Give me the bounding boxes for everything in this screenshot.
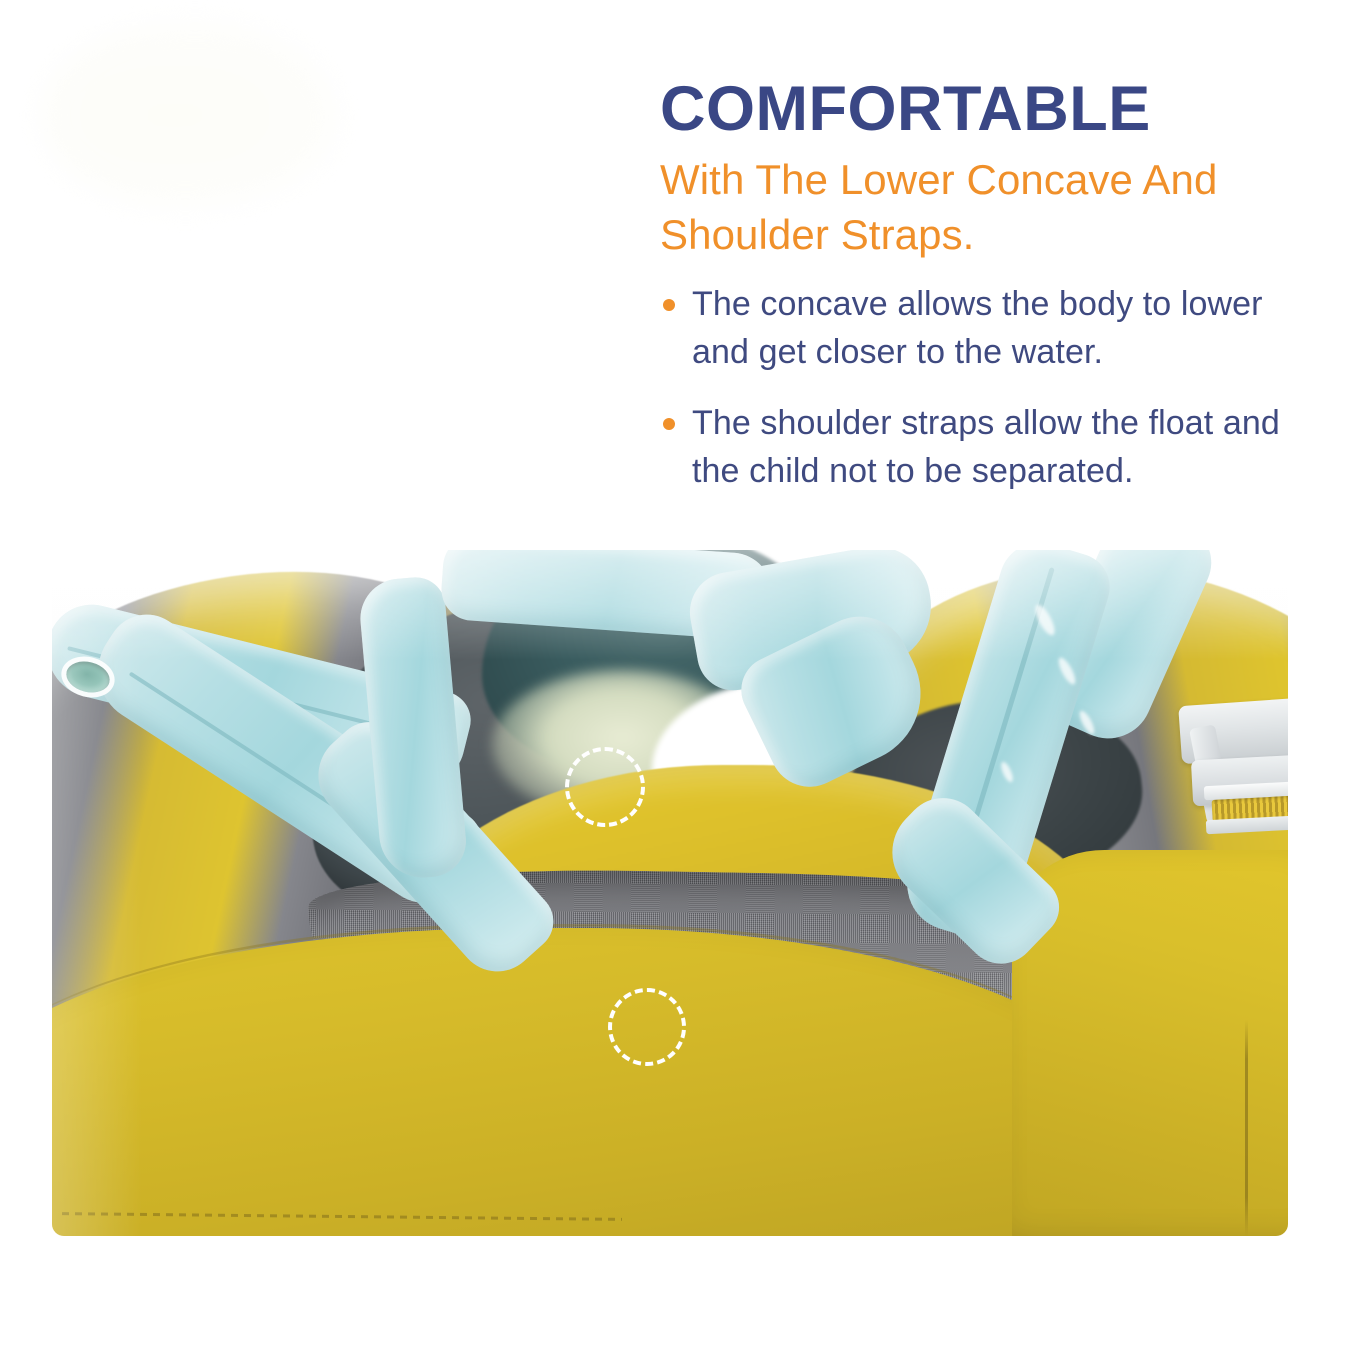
text-block: COMFORTABLE With The Lower Concave And S…	[660, 78, 1300, 495]
subtitle-line-2: Shoulder Straps.	[660, 208, 1300, 263]
list-item-label: The concave allows the body to lower and…	[692, 285, 1263, 371]
background-ghost-blob	[40, 20, 340, 210]
bullet-dot-icon	[663, 299, 675, 311]
list-item: The shoulder straps allow the float and …	[660, 399, 1300, 496]
bullet-dot-icon	[663, 418, 675, 430]
list-item: The concave allows the body to lower and…	[660, 280, 1300, 377]
subtitle: With The Lower Concave And Shoulder Stra…	[660, 153, 1300, 262]
page-title: COMFORTABLE	[660, 78, 1300, 141]
product-photo-canvas	[52, 550, 1288, 1236]
product-photo	[52, 550, 1288, 1236]
list-item-label: The shoulder straps allow the float and …	[692, 404, 1280, 490]
feature-list: The concave allows the body to lower and…	[660, 280, 1300, 495]
subtitle-line-1: With The Lower Concave And	[660, 153, 1300, 208]
infographic-page: COMFORTABLE With The Lower Concave And S…	[0, 0, 1346, 1346]
float-body-right-seam	[1245, 1020, 1248, 1236]
